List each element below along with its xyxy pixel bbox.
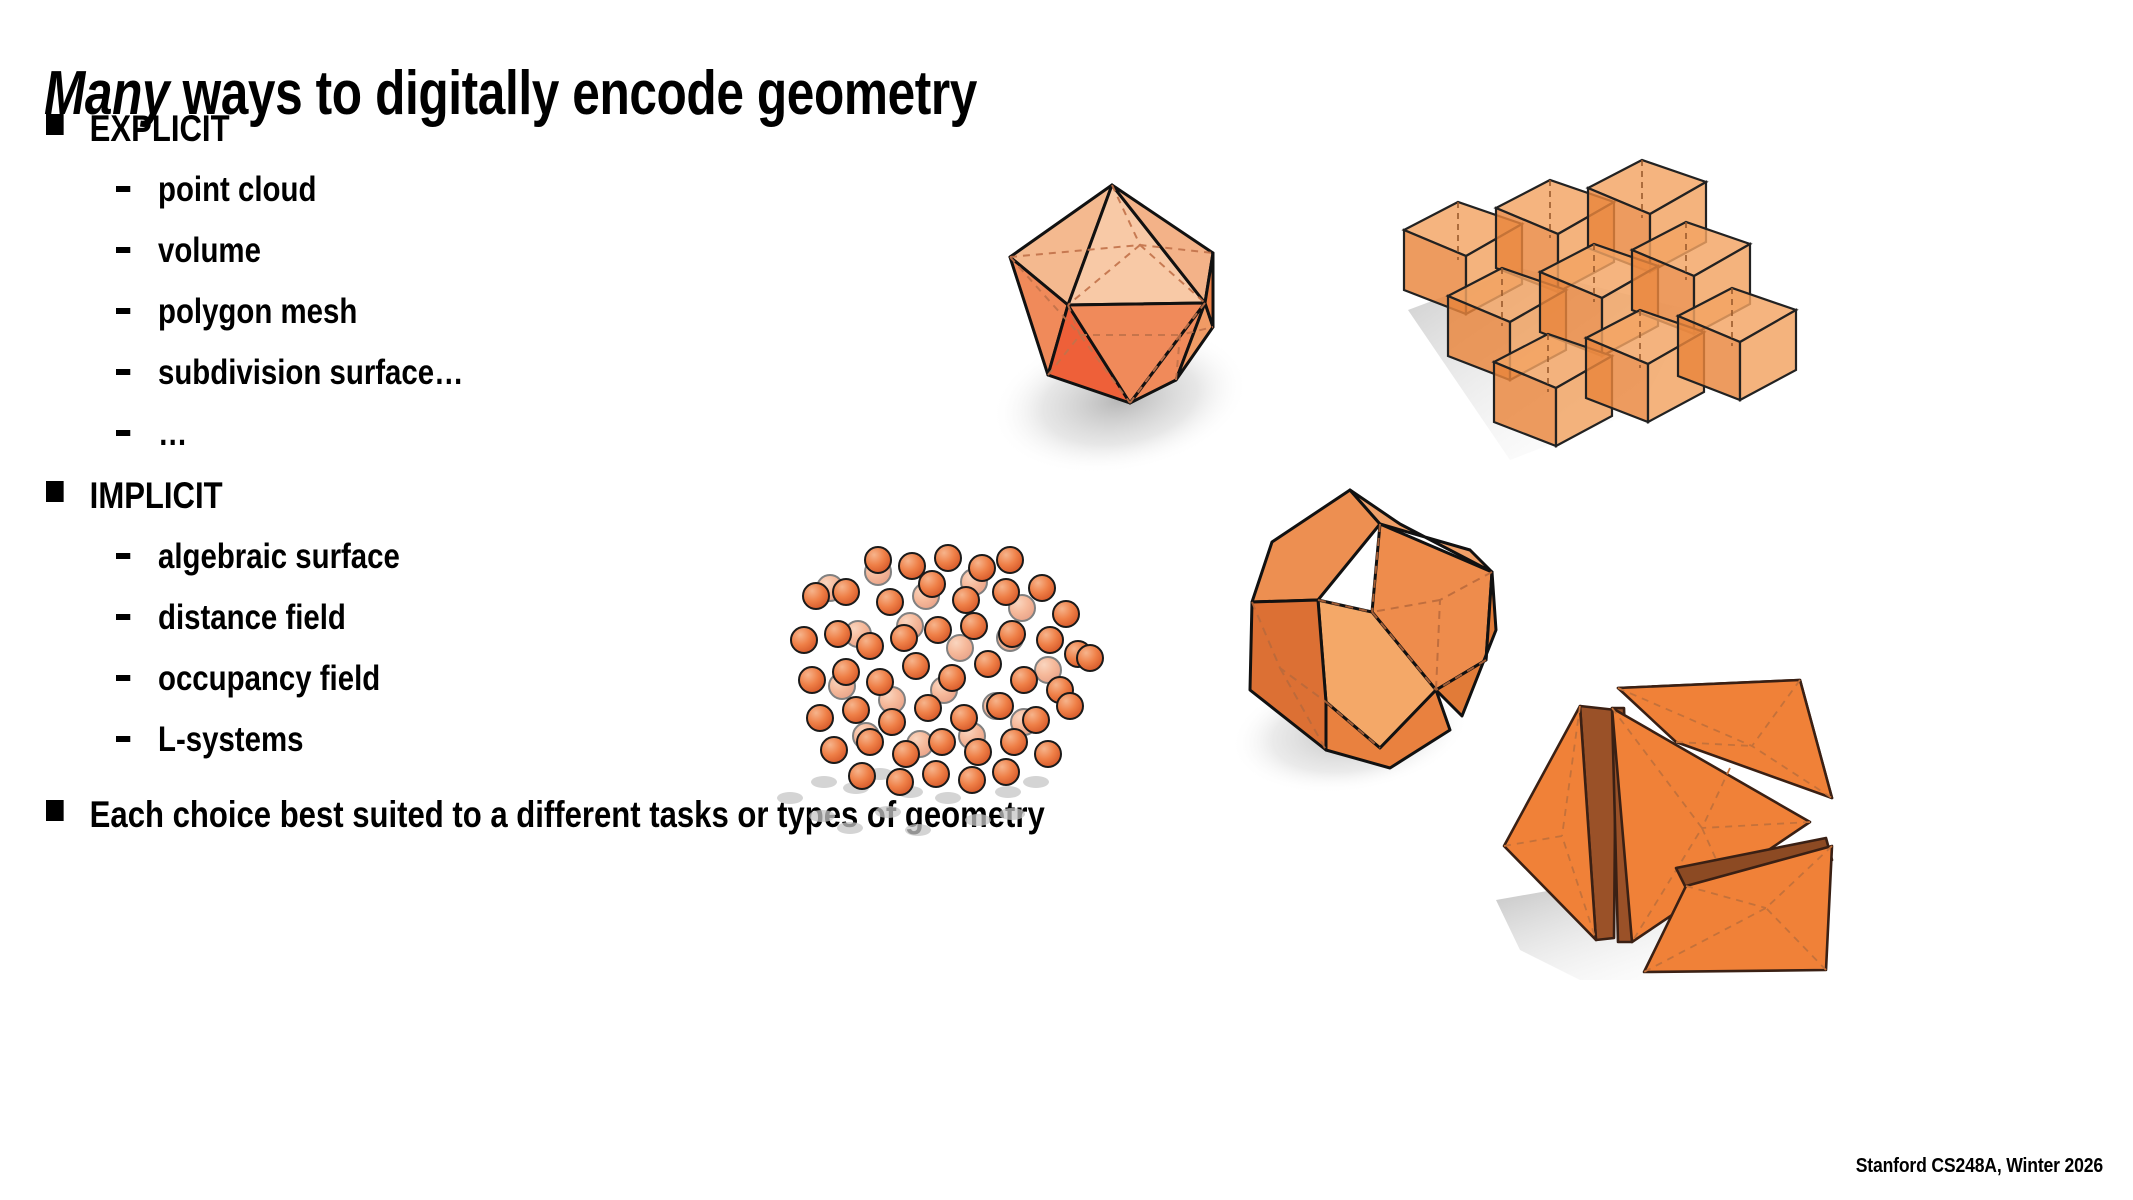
dodecahedron-illustration (1240, 480, 1540, 800)
bullet-label: point cloud (158, 170, 316, 210)
bullet-label: L-systems (158, 720, 303, 760)
bullet-label: subdivision surface… (158, 353, 464, 393)
bullet-l-systems: L-systems (116, 720, 897, 781)
bullet-label: distance field (158, 598, 346, 638)
dash-bullet-icon (116, 233, 158, 268)
bullet-label: occupancy field (158, 659, 380, 699)
bullet-label: algebraic surface (158, 537, 400, 577)
bullet-list: EXPLICIT point cloud volume polygon mesh… (46, 108, 1046, 856)
dash-bullet-icon (116, 722, 158, 757)
dash-bullet-icon (116, 539, 158, 574)
slide-footer: Stanford CS248A, Winter 2026 (1856, 1155, 2103, 1178)
bullet-occupancy-field: occupancy field (116, 659, 897, 720)
dash-bullet-icon (116, 355, 158, 390)
slide-canvas: Many ways to digitally encode geometry E… (0, 0, 2133, 1200)
bullet-point-cloud: point cloud (116, 170, 897, 231)
bullet-label: polygon mesh (158, 292, 357, 332)
exploded-tetrahedron-illustration (1490, 650, 1850, 990)
dash-bullet-icon (116, 661, 158, 696)
square-bullet-icon (46, 800, 90, 825)
bullet-label: … (158, 414, 187, 454)
dash-bullet-icon (116, 172, 158, 207)
bullet-polygon-mesh: polygon mesh (116, 292, 897, 353)
bullet-algebraic-surface: algebraic surface (116, 537, 897, 598)
bullet-label: EXPLICIT (90, 108, 230, 150)
bullet-explicit-more: … (116, 414, 897, 475)
bullet-summary: Each choice best suited to a different t… (46, 794, 886, 856)
icosahedron-illustration (1000, 175, 1340, 515)
square-bullet-icon (46, 481, 90, 506)
bullet-label: Each choice best suited to a different t… (90, 794, 1045, 836)
bullet-implicit: IMPLICIT (46, 475, 886, 537)
bullet-label: IMPLICIT (90, 475, 223, 517)
square-bullet-icon (46, 114, 90, 139)
bullet-explicit: EXPLICIT (46, 108, 886, 170)
voxel-grid-illustration (1390, 160, 1860, 510)
bullet-distance-field: distance field (116, 598, 897, 659)
bullet-volume: volume (116, 231, 897, 292)
bullet-subdivision-surface: subdivision surface… (116, 353, 897, 414)
bullet-label: volume (158, 231, 261, 271)
dash-bullet-icon (116, 600, 158, 635)
dash-bullet-icon (116, 416, 158, 451)
dash-bullet-icon (116, 294, 158, 329)
